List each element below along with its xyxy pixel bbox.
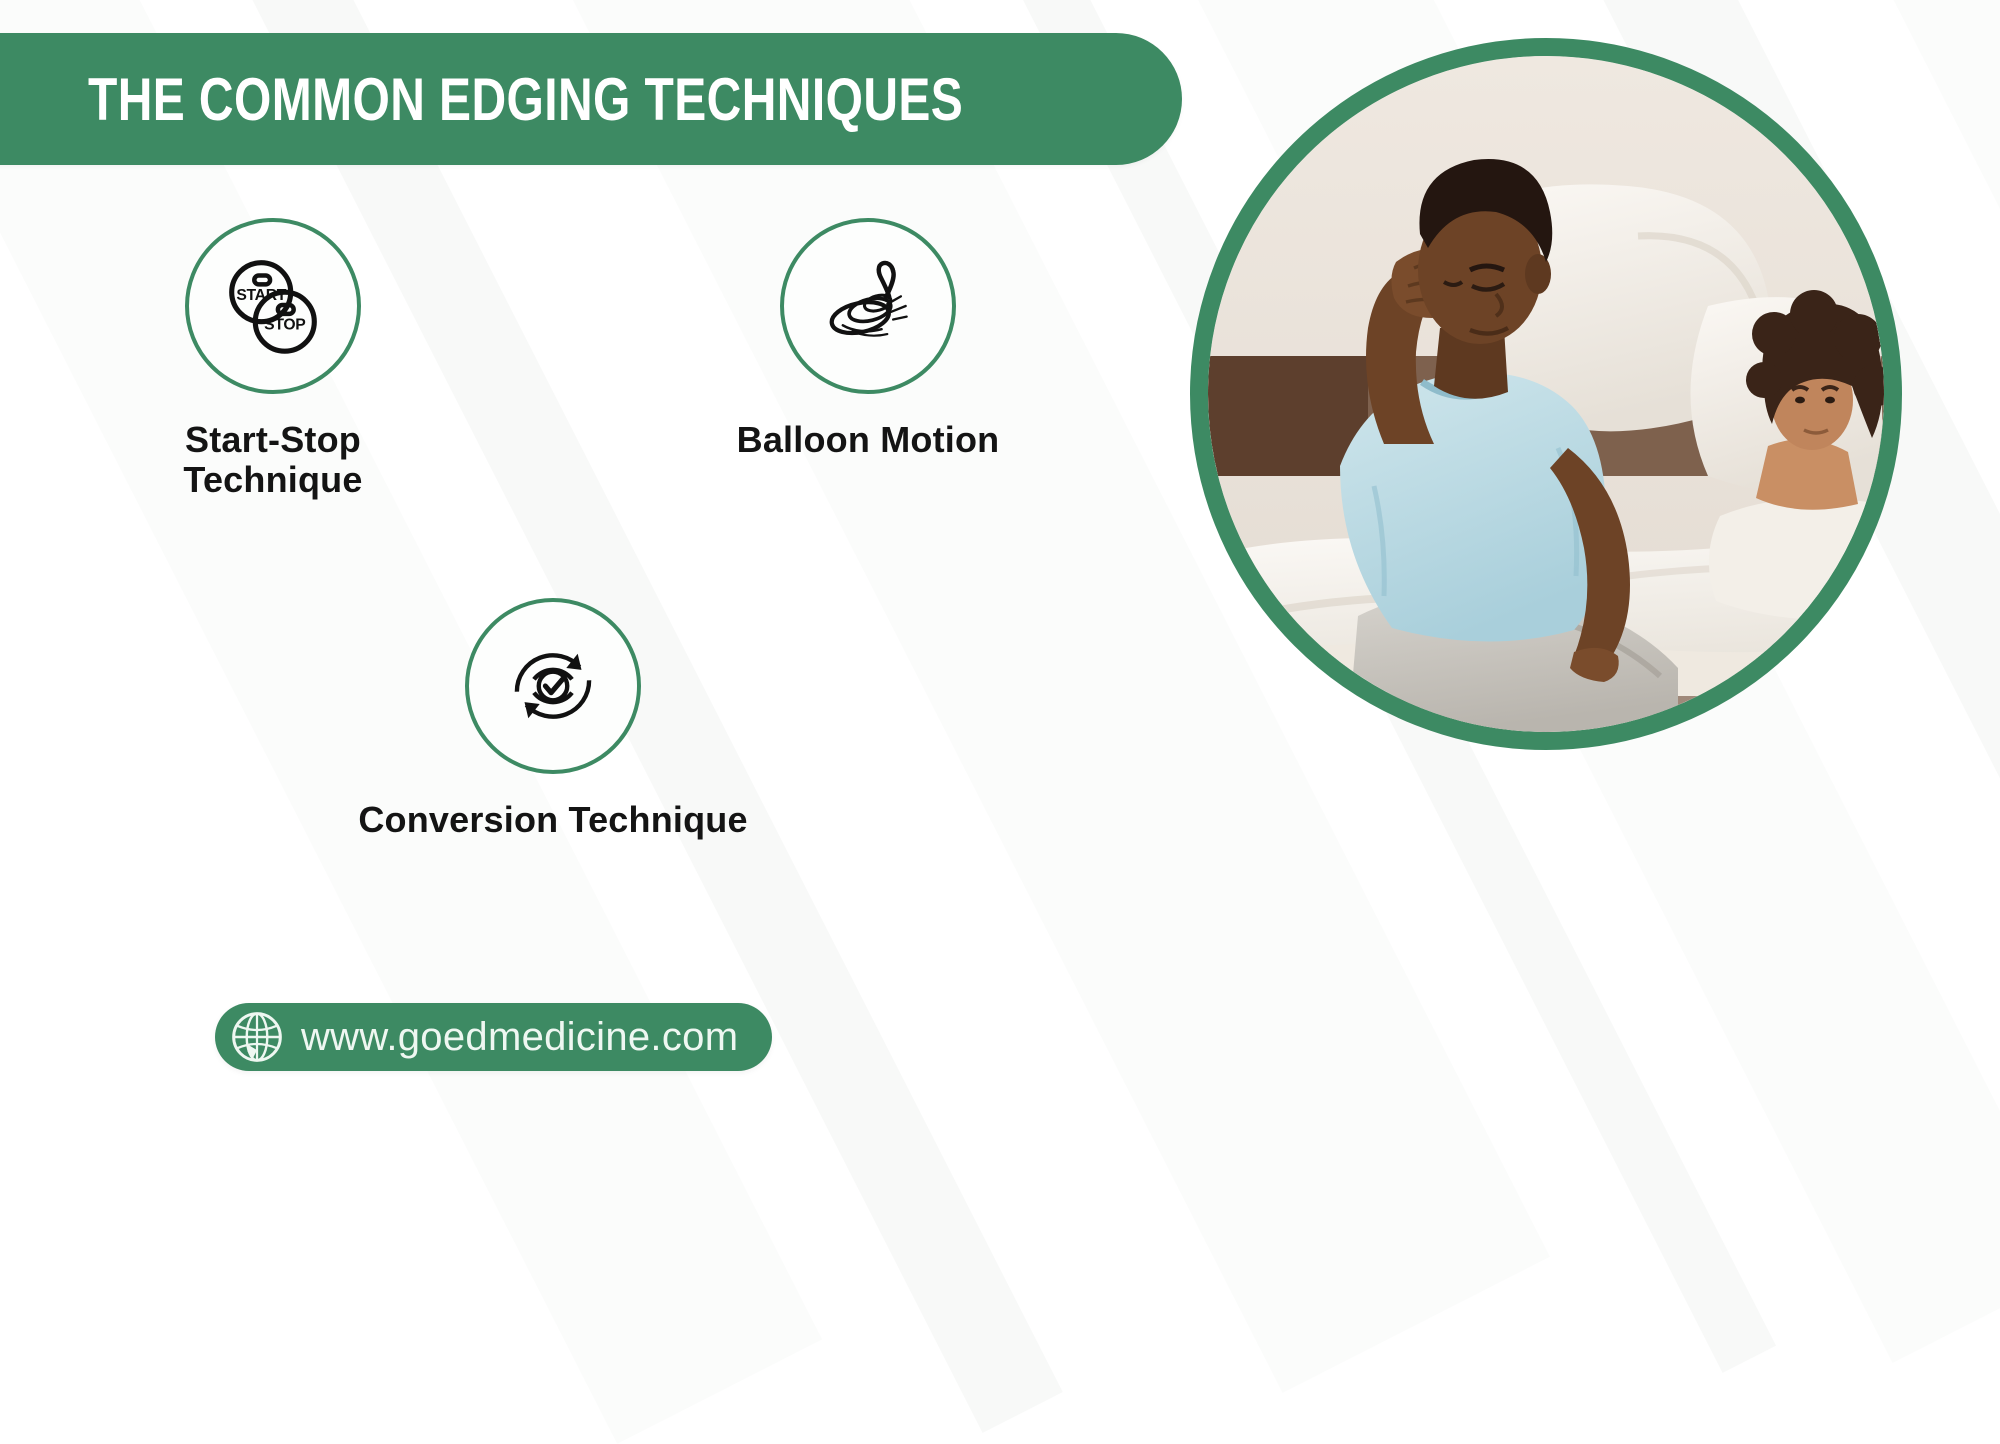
page-title: THE COMMON EDGING TECHNIQUES	[88, 65, 963, 134]
balloon-swirl-motion-icon	[810, 248, 926, 364]
icon-ring-balloon	[780, 218, 956, 394]
hero-photo-illustration	[1208, 56, 1884, 732]
website-url-text: www.goedmedicine.com	[301, 1015, 738, 1060]
refresh-check-cycle-icon	[496, 629, 610, 743]
hero-photo-frame	[1190, 38, 1902, 750]
icon-ring-conversion	[465, 598, 641, 774]
svg-text:STOP: STOP	[264, 317, 305, 334]
svg-text:START: START	[236, 287, 286, 304]
feature-conversion-technique[interactable]: Conversion Technique	[393, 598, 713, 840]
website-url-badge[interactable]: www.goedmedicine.com	[215, 1003, 772, 1071]
feature-label-conversion: Conversion Technique	[358, 800, 747, 840]
globe-icon	[229, 1009, 285, 1065]
header-banner: THE COMMON EDGING TECHNIQUES	[0, 33, 1182, 165]
feature-label-start-stop: Start-Stop Technique	[183, 420, 362, 501]
feature-balloon-motion[interactable]: Balloon Motion	[708, 218, 1028, 460]
start-stop-buttons-icon: START STOP	[214, 247, 332, 365]
hero-photo	[1208, 56, 1884, 732]
icon-ring-start-stop: START STOP	[185, 218, 361, 394]
feature-start-stop[interactable]: START STOP Start-Stop Technique	[113, 218, 433, 501]
feature-label-balloon: Balloon Motion	[737, 420, 1000, 460]
